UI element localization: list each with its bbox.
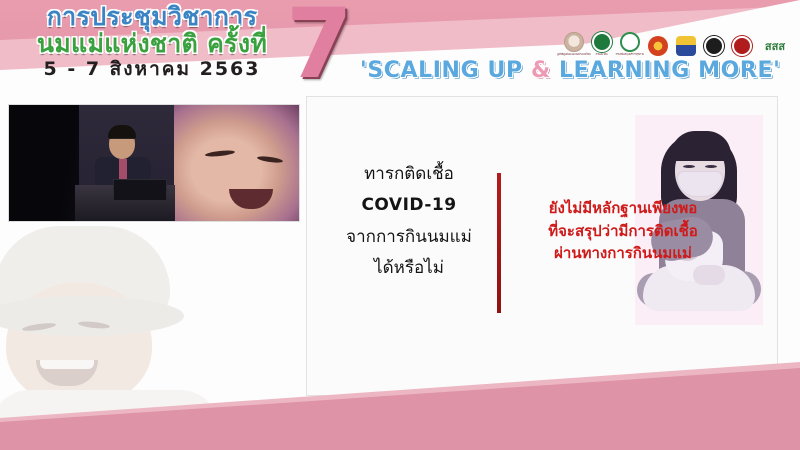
presentation-slide-panel: ทารกติดเชื้อ COVID-19 จากการกินนมแม่ ได้… (306, 96, 778, 396)
answer-line-3: ผ่านทางการกินนมแม่ (507, 242, 739, 265)
conference-tagline: 'SCALING UP & LEARNING MORE' (360, 58, 780, 83)
mother-eye-left (683, 165, 695, 168)
conference-title-line1: การประชุมวิชาการ (22, 4, 282, 30)
thaihealth-sss-logo: สสส (758, 26, 792, 56)
conference-title-block: การประชุมวิชาการ นมแม่แห่งชาติ ครั้งที่ … (22, 4, 282, 79)
slide-answer-text: ยังไม่มีหลักฐานเพียงพอ ที่จะสรุปว่ามีการ… (507, 197, 739, 265)
baby-watermark-photo (0, 224, 250, 420)
question-line-2: COVID-19 (325, 190, 493, 221)
sponsor-logos-row: มูลนิธิศูนย์นมแม่แห่งประเทศไทย กรมอนามัย… (562, 26, 792, 56)
logo-mark (676, 36, 696, 56)
logo-mark (732, 36, 752, 56)
projected-baby-eye-left (205, 149, 235, 157)
nursing-council-logo (702, 26, 726, 56)
logo-mark (592, 32, 612, 52)
speaker-hair (108, 125, 136, 139)
question-line-3: จากการกินนมแม่ (325, 222, 493, 253)
logo-caption: กรมอนามัย (596, 53, 608, 56)
thai-pediatric-society-logo (646, 26, 670, 56)
vertical-red-divider (497, 173, 501, 313)
logo-caption: กรมสนับสนุนบริการสุขภาพ (616, 53, 644, 56)
speaker-necktie (119, 159, 127, 181)
slide-screenshot: การประชุมวิชาการ นมแม่แห่งชาติ ครั้งที่ … (0, 0, 800, 450)
answer-line-1: ยังไม่มีหลักฐานเพียงพอ (507, 197, 739, 220)
ministry-of-public-health-logo: กรมอนามัย (590, 26, 614, 56)
logo-mark (564, 32, 584, 52)
speaker-glasses-icon (111, 138, 133, 143)
logo-mark (704, 36, 724, 56)
mother-eye-right (705, 165, 717, 168)
laptop (113, 179, 167, 201)
mother-hand (693, 265, 725, 285)
speaker-video-feed[interactable] (8, 104, 300, 222)
tagline-prefix: 'SCALING UP (360, 58, 531, 83)
conference-title-line2: นมแม่แห่งชาติ ครั้งที่ (22, 31, 282, 57)
health-department-logo: กรมสนับสนุนบริการสุขภาพ (618, 26, 642, 56)
red-crest-logo (730, 26, 754, 56)
answer-line-2: ที่จะสรุปว่ามีการติดเชื้อ (507, 220, 739, 243)
projected-baby-mouth (229, 189, 273, 209)
logo-mark (620, 32, 640, 52)
tagline-suffix: LEARNING MORE' (551, 58, 781, 83)
question-line-4: ได้หรือไม่ (325, 253, 493, 284)
slide-question-text: ทารกติดเชื้อ COVID-19 จากการกินนมแม่ ได้… (325, 159, 493, 285)
projected-baby-image (174, 105, 299, 222)
question-line-1: ทารกติดเชื้อ (325, 159, 493, 190)
logo-caption: มูลนิธิศูนย์นมแม่แห่งประเทศไทย (557, 53, 591, 56)
logo-mark (648, 36, 668, 56)
royal-patronage-seal-logo: มูลนิธิศูนย์นมแม่แห่งประเทศไทย (562, 26, 586, 56)
royal-college-logo (674, 26, 698, 56)
tagline-ampersand: & (531, 58, 551, 83)
mother-hair-top (671, 131, 731, 161)
logo-mark: สสส (759, 36, 791, 56)
projected-baby-eye-right (257, 155, 283, 164)
watermark-teeth (40, 360, 94, 369)
edition-number: 7 (286, 0, 353, 92)
conference-date: 5 - 7 สิงหาคม 2563 (22, 60, 282, 79)
